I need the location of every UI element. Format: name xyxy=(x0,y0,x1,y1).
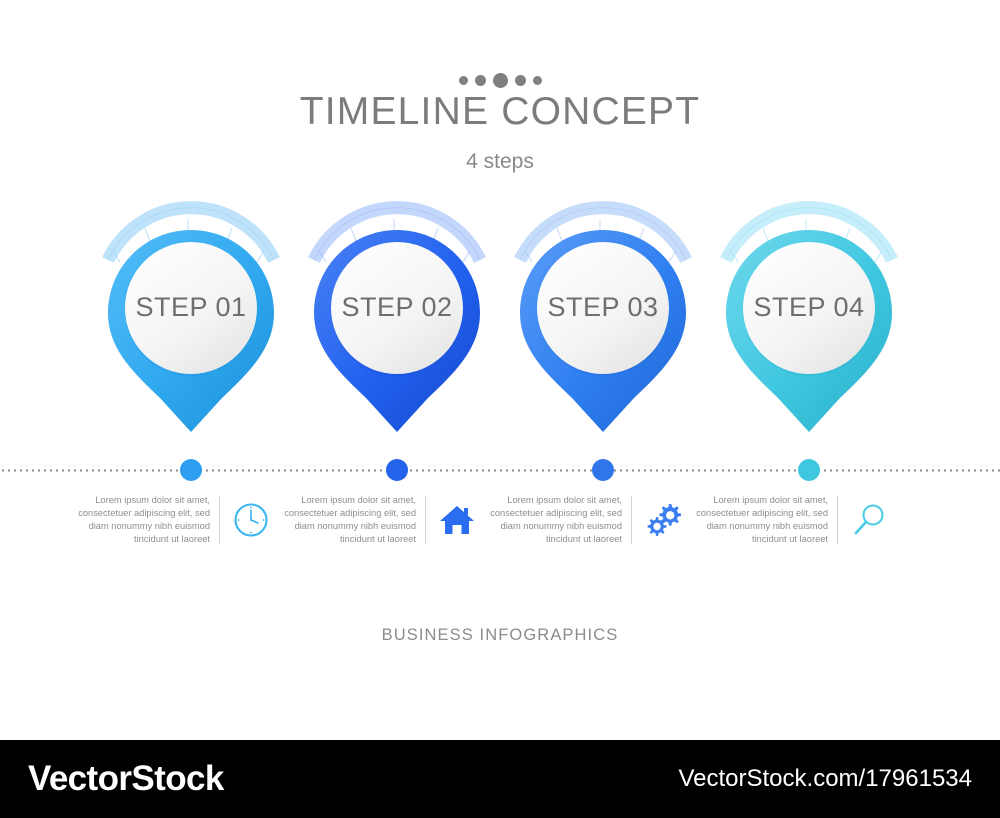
step-description-text-1: Lorem ipsum dolor sit amet, consectetuer… xyxy=(58,494,210,547)
pin-shape-2 xyxy=(294,200,500,450)
watermark-bar: VectorStock VectorStock.com/17961534 xyxy=(0,740,1000,818)
watermark-url: VectorStock.com/17961534 xyxy=(678,765,972,793)
page-subtitle: 4 steps xyxy=(0,150,1000,174)
step-marker-2[interactable]: STEP 02 xyxy=(294,200,500,450)
pin-shape-3 xyxy=(500,200,706,450)
page-title: TIMELINE CONCEPT xyxy=(0,90,1000,134)
pin-shape-4 xyxy=(706,200,912,450)
timeline-node-4[interactable] xyxy=(798,459,820,481)
infographic-canvas: TIMELINE CONCEPT 4 steps xyxy=(0,0,1000,740)
description-divider xyxy=(219,496,220,544)
magnifier-icon xyxy=(847,497,891,543)
timeline-node-2[interactable] xyxy=(386,459,408,481)
header-dot xyxy=(475,75,486,86)
step-marker-4[interactable]: STEP 04 xyxy=(706,200,912,450)
step-marker-3[interactable]: STEP 03 xyxy=(500,200,706,450)
header-dot xyxy=(493,73,508,88)
description-divider xyxy=(631,496,632,544)
step-marker-1[interactable]: STEP 01 xyxy=(88,200,294,450)
timeline-axis xyxy=(0,469,1000,472)
header-dots xyxy=(0,70,1000,90)
step-description-2: Lorem ipsum dolor sit amet, consectetuer… xyxy=(264,490,479,550)
step-description-3: Lorem ipsum dolor sit amet, consectetuer… xyxy=(470,490,685,550)
step-label-4: STEP 04 xyxy=(706,292,912,323)
step-label-2: STEP 02 xyxy=(294,292,500,323)
pin-shape-1 xyxy=(88,200,294,450)
description-divider xyxy=(837,496,838,544)
step-description-text-2: Lorem ipsum dolor sit amet, consectetuer… xyxy=(264,494,416,547)
description-divider xyxy=(425,496,426,544)
header-dot xyxy=(459,76,468,85)
timeline-node-3[interactable] xyxy=(592,459,614,481)
step-description-4: Lorem ipsum dolor sit amet, consectetuer… xyxy=(676,490,891,550)
timeline-node-1[interactable] xyxy=(180,459,202,481)
watermark-logo: VectorStock xyxy=(28,759,224,799)
step-label-1: STEP 01 xyxy=(88,292,294,323)
footer-caption: BUSINESS INFOGRAPHICS xyxy=(0,626,1000,645)
header-dot xyxy=(533,76,542,85)
step-markers: STEP 01 xyxy=(0,200,1000,450)
step-description-text-4: Lorem ipsum dolor sit amet, consectetuer… xyxy=(676,494,828,547)
step-description-text-3: Lorem ipsum dolor sit amet, consectetuer… xyxy=(470,494,622,547)
header-dot xyxy=(515,75,526,86)
step-description-1: Lorem ipsum dolor sit amet, consectetuer… xyxy=(58,490,273,550)
step-label-3: STEP 03 xyxy=(500,292,706,323)
